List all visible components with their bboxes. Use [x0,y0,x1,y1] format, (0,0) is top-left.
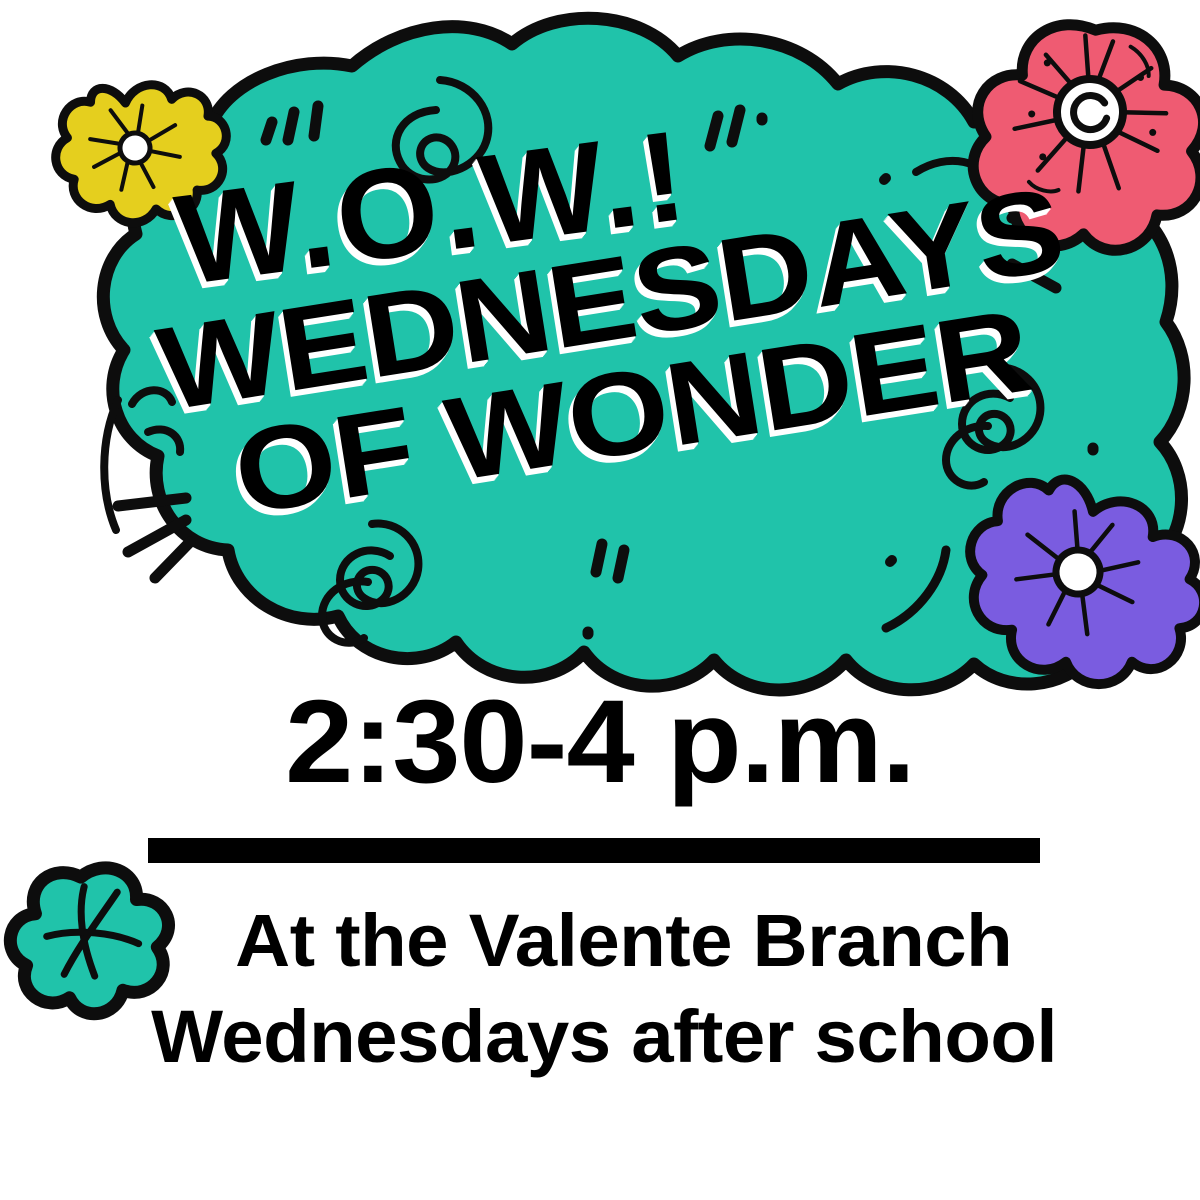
footer-location: At the Valente Branch [0,893,1200,989]
poster-canvas: W.O.W.! WEDNESDAYS OF WONDER 2:30-4 p.m.… [0,0,1200,1200]
footer-schedule: Wednesdays after school [0,989,1200,1085]
divider-bar [148,838,1040,863]
footer-block: At the Valente Branch Wednesdays after s… [0,893,1200,1085]
event-time: 2:30-4 p.m. [0,683,1200,801]
